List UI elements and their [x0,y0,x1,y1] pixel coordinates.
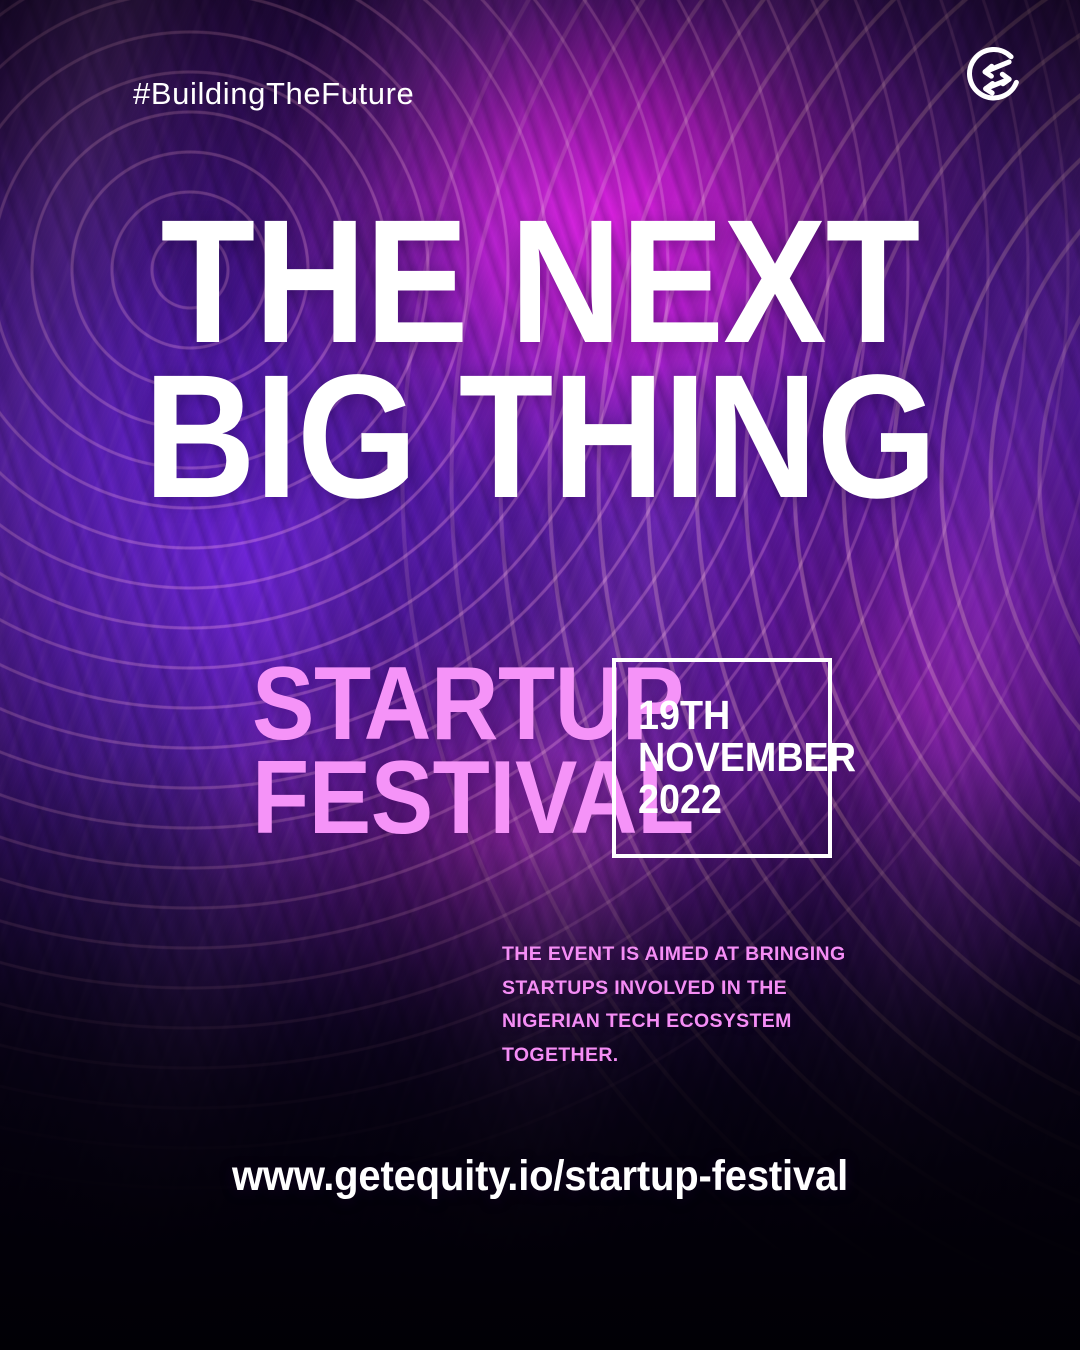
event-date-day: 19TH [638,695,856,737]
description-line-3: NIGERIAN TECH ECOSYSTEM [502,1005,852,1039]
event-date-year: 2022 [638,779,856,821]
headline-line-2: BIG THING [65,353,1015,522]
description-line-1: THE EVENT IS AIMED AT BRINGING [502,938,852,972]
description-line-4: TOGETHER. [502,1039,852,1073]
getequity-logo-icon [966,44,1028,106]
event-url-link[interactable]: www.getequity.io/startup-festival [38,1152,1042,1201]
event-description: THE EVENT IS AIMED AT BRINGING STARTUPS … [502,938,852,1072]
campaign-hashtag: #BuildingTheFuture [133,76,414,112]
poster-canvas: #BuildingTheFuture THE NEXT BIG THING ST… [0,0,1080,1350]
description-line-2: STARTUPS INVOLVED IN THE [502,972,852,1006]
event-date-box: 19TH NOVEMBER 2022 [612,658,832,858]
event-date-text: 19TH NOVEMBER 2022 [638,695,856,820]
event-date-month: NOVEMBER [638,737,856,779]
page-title: THE NEXT BIG THING [65,198,1015,522]
